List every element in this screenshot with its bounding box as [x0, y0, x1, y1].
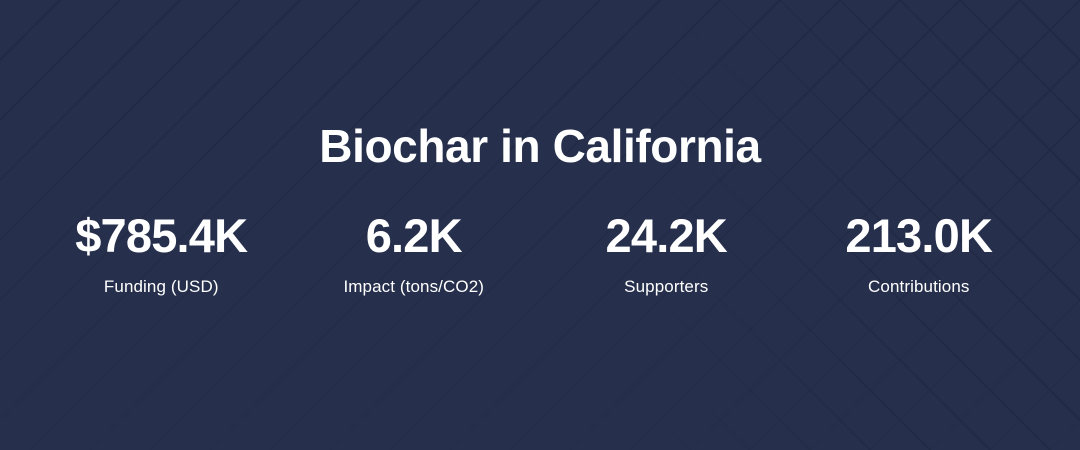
banner-content: Biochar in California $785.4K Funding (U… — [0, 0, 1080, 450]
stat-block-contributions: 213.0K Contributions — [793, 211, 1046, 297]
stats-banner: Biochar in California $785.4K Funding (U… — [0, 0, 1080, 450]
stat-label-contributions: Contributions — [868, 277, 969, 297]
stat-label-supporters: Supporters — [624, 277, 708, 297]
stat-value-impact: 6.2K — [366, 211, 462, 261]
page-title: Biochar in California — [319, 123, 760, 169]
stat-label-funding: Funding (USD) — [104, 277, 219, 297]
stat-value-contributions: 213.0K — [845, 211, 992, 261]
stat-value-supporters: 24.2K — [606, 211, 727, 261]
stat-block-impact: 6.2K Impact (tons/CO2) — [288, 211, 541, 297]
stat-value-funding: $785.4K — [75, 211, 247, 261]
stat-block-supporters: 24.2K Supporters — [540, 211, 793, 297]
stat-block-funding: $785.4K Funding (USD) — [35, 211, 288, 297]
stats-row: $785.4K Funding (USD) 6.2K Impact (tons/… — [35, 211, 1045, 297]
stat-label-impact: Impact (tons/CO2) — [343, 277, 484, 297]
